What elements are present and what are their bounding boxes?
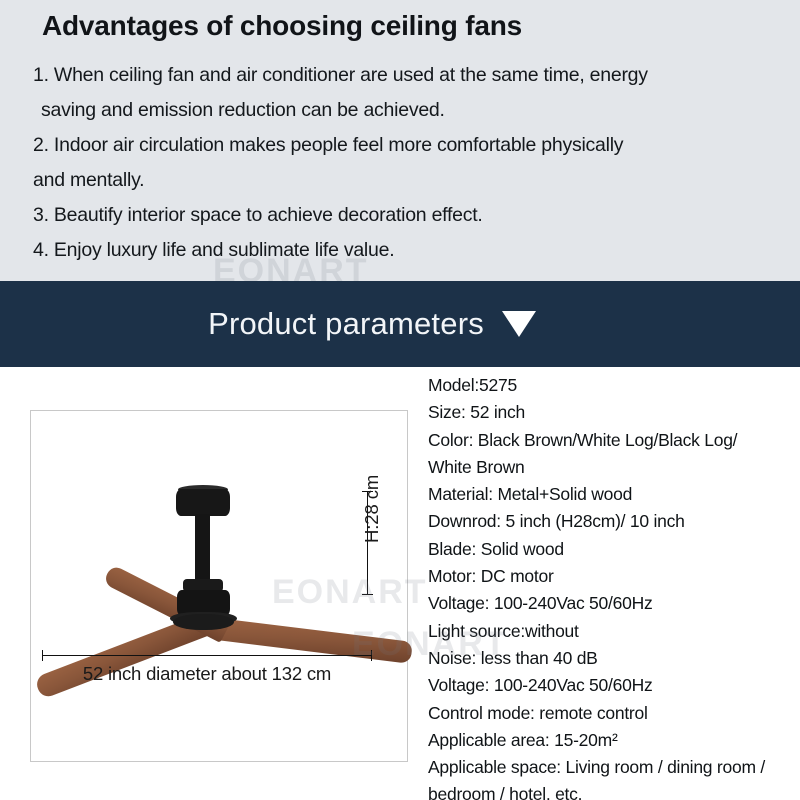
ceiling-fan-illustration <box>31 411 409 763</box>
spec-color-cont: White Brown <box>428 454 794 481</box>
diameter-dimension-line <box>42 655 372 656</box>
spec-control-mode: Control mode: remote control <box>428 700 794 727</box>
fan-hub-cap <box>173 614 234 630</box>
triangle-down-icon <box>502 311 536 337</box>
advantage-line-4: 4. Enjoy luxury life and sublimate life … <box>33 233 773 268</box>
spec-downrod: Downrod: 5 inch (H28cm)/ 10 inch <box>428 508 794 535</box>
spec-applicable-area: Applicable area: 15-20m² <box>428 727 794 754</box>
product-image-frame <box>30 410 408 762</box>
spec-applicable-space: Applicable space: Living room / dining r… <box>428 754 794 781</box>
advantage-line-1-cont: saving and emission reduction can be ach… <box>33 93 773 128</box>
advantages-section: Advantages of choosing ceiling fans 1. W… <box>0 0 800 281</box>
product-parameters-banner: Product parameters <box>0 281 800 367</box>
advantages-list: 1. When ceiling fan and air conditioner … <box>33 58 773 268</box>
banner-content: Product parameters <box>208 306 536 342</box>
banner-title: Product parameters <box>208 306 484 342</box>
spec-color: Color: Black Brown/White Log/Black Log/ <box>428 427 794 454</box>
product-detail-page: Advantages of choosing ceiling fans 1. W… <box>0 0 800 800</box>
advantage-line-2: 2. Indoor air circulation makes people f… <box>33 128 773 163</box>
spec-voltage-2: Voltage: 100-240Vac 50/60Hz <box>428 672 794 699</box>
spec-voltage-1: Voltage: 100-240Vac 50/60Hz <box>428 590 794 617</box>
specification-list: Model:5275 Size: 52 inch Color: Black Br… <box>428 372 794 800</box>
advantage-line-2-cont: and mentally. <box>33 163 773 198</box>
advantage-line-3: 3. Beautify interior space to achieve de… <box>33 198 773 233</box>
advantages-heading: Advantages of choosing ceiling fans <box>42 10 522 42</box>
fan-canopy <box>176 489 230 516</box>
height-dimension-label: H:28 cm <box>361 475 383 543</box>
spec-applicable-space-cont: bedroom / hotel, etc. <box>428 781 794 800</box>
spec-blade: Blade: Solid wood <box>428 536 794 563</box>
diameter-dimension-label: 52 inch diameter about 132 cm <box>42 663 372 685</box>
spec-size: Size: 52 inch <box>428 399 794 426</box>
dimension-diagram-section: 52 inch diameter about 132 cm H:28 cm <box>0 367 420 800</box>
spec-motor: Motor: DC motor <box>428 563 794 590</box>
spec-material: Material: Metal+Solid wood <box>428 481 794 508</box>
spec-model: Model:5275 <box>428 372 794 399</box>
spec-noise: Noise: less than 40 dB <box>428 645 794 672</box>
fan-blade-right <box>216 618 413 664</box>
spec-light-source: Light source:without <box>428 618 794 645</box>
advantage-line-1: 1. When ceiling fan and air conditioner … <box>33 58 773 93</box>
fan-downrod <box>195 514 210 582</box>
